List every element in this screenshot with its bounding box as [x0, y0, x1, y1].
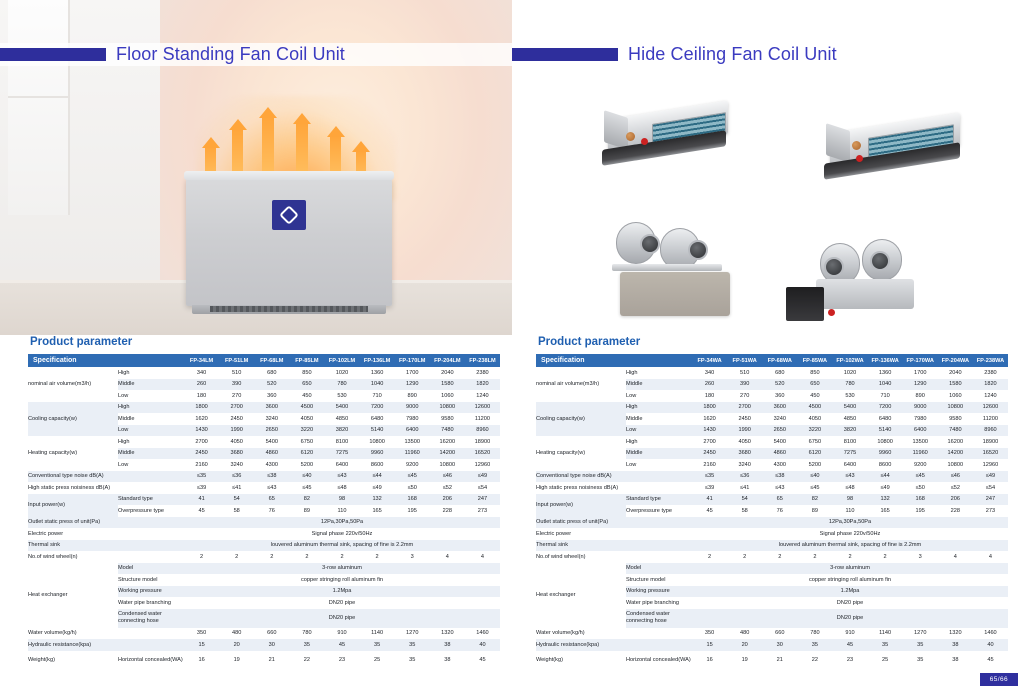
cell-value: 4050 [219, 436, 254, 448]
table-row: Input power(w)Standard type4154658298132… [28, 494, 500, 506]
cell-value: 1290 [903, 379, 938, 391]
cell-value: 260 [184, 379, 219, 391]
header-model-right-1: FP-51WA [727, 354, 762, 367]
cell-value: 228 [938, 505, 973, 517]
cell-value: 20 [727, 639, 762, 651]
cell-value: 5140 [868, 425, 903, 437]
row-sublabel: Middle [118, 448, 184, 460]
cell-value: 9960 [868, 448, 903, 460]
copper-pipe-icon [626, 132, 635, 141]
cell-value: 1270 [903, 628, 938, 640]
section-title-text: Floor Standing Fan Coil Unit [116, 44, 345, 65]
catalog-page: Floor Standing Fan Coil Unit Hide Ceilin… [0, 0, 1024, 695]
table-row: nominal air volume(m3/h)High340510680850… [536, 367, 1008, 379]
cell-value: 1820 [973, 379, 1008, 391]
front-panel [620, 272, 730, 316]
table-row: Cooling capacity(w)High18002700360045005… [28, 402, 500, 414]
cell-value: 1580 [430, 379, 465, 391]
cell-value: 340 [692, 367, 727, 379]
header-model-right-8: FP-238WA [973, 354, 1008, 367]
row-sublabel: Working pressure [118, 586, 184, 598]
cell-value: 4050 [797, 413, 832, 425]
cell-value: 1320 [938, 628, 973, 640]
cell-value: 22 [289, 651, 324, 670]
table-row: Weight(kg)Horizontal concealed(WA)161921… [536, 651, 1008, 670]
cell-value: 11200 [465, 413, 500, 425]
cell-value: 180 [184, 390, 219, 402]
header-model-right-3: FP-85WA [797, 354, 832, 367]
cell-value: ≤49 [465, 471, 500, 483]
cell-value: 6750 [797, 436, 832, 448]
open-chamber [786, 287, 824, 321]
cell-value: 360 [762, 390, 797, 402]
cell-value: 3600 [254, 402, 289, 414]
brand-logo [272, 200, 306, 230]
cell-value: 30 [254, 639, 289, 651]
cell-value: 1240 [465, 390, 500, 402]
section-title-floor-standing: Floor Standing Fan Coil Unit [0, 44, 345, 65]
cell-value: 8100 [324, 436, 359, 448]
row-label: Hydraulic resistance(kpa) [536, 639, 692, 651]
cell-value: ≤43 [254, 482, 289, 494]
cell-merged-value: copper stringing roll aluminum fin [184, 574, 500, 586]
cell-value: 16520 [465, 448, 500, 460]
cell-value: 3 [903, 551, 938, 563]
cell-value: 10800 [360, 436, 395, 448]
cell-value: 110 [832, 505, 867, 517]
cell-value: 510 [219, 367, 254, 379]
cell-merged-value: 3-row aluminum [692, 563, 1008, 575]
cell-value: 1360 [360, 367, 395, 379]
cell-value: 9580 [938, 413, 973, 425]
row-label: Heating capacity(w) [536, 436, 626, 471]
logo-mark-icon [279, 205, 299, 225]
row-sublabel: Horizontal concealed(WA) [626, 651, 692, 670]
table-row: Conventional type noise dB(A)≤35≤36≤38≤4… [28, 471, 500, 483]
cell-value: 1060 [938, 390, 973, 402]
row-sublabel: Middle [118, 379, 184, 391]
spec-table-floor-standing: SpecificationFP-34LMFP-51LMFP-68LMFP-85L… [28, 354, 500, 670]
cell-value: 195 [903, 505, 938, 517]
cell-value: 1360 [868, 367, 903, 379]
cell-value: 3240 [762, 413, 797, 425]
cell-value: 1800 [692, 402, 727, 414]
cell-value: 2160 [184, 459, 219, 471]
cell-value: 2 [692, 551, 727, 563]
cell-value: 1580 [938, 379, 973, 391]
cell-value: 2380 [973, 367, 1008, 379]
table-row: Hydraulic resistance(kpa)152030354535353… [536, 639, 1008, 651]
cell-value: 8100 [832, 436, 867, 448]
cell-value: 4850 [324, 413, 359, 425]
cell-value: 11960 [395, 448, 430, 460]
copper-pipe-icon [852, 141, 861, 150]
cell-value: 21 [254, 651, 289, 670]
cell-value: 3220 [797, 425, 832, 437]
row-sublabel: Structure model [626, 574, 692, 586]
row-sublabel: High [118, 436, 184, 448]
left-parameter-section: Product parameter SpecificationFP-34LMFP… [28, 336, 500, 670]
row-label: Thermal sink [28, 540, 184, 552]
cell-value: 165 [868, 505, 903, 517]
cell-value: 12600 [973, 402, 1008, 414]
cell-value: 710 [868, 390, 903, 402]
table-row-heat-exchanger: Heat exchangerModel3-row aluminum [28, 563, 500, 575]
header-model-left-7: FP-204LM [430, 354, 465, 367]
row-label: Weight(kg) [28, 651, 118, 670]
row-sublabel: Overpressure type [626, 505, 692, 517]
cell-value: 8960 [465, 425, 500, 437]
cell-value: 82 [289, 494, 324, 506]
cell-value: 270 [727, 390, 762, 402]
cell-value: 5400 [324, 402, 359, 414]
cell-value: 2160 [692, 459, 727, 471]
cell-value: ≤49 [973, 471, 1008, 483]
cell-value: 2380 [465, 367, 500, 379]
cell-value: 1020 [832, 367, 867, 379]
cell-value: ≤46 [938, 471, 973, 483]
table-row: nominal air volume(m3/h)High340510680850… [28, 367, 500, 379]
cell-value: ≤48 [832, 482, 867, 494]
header-model-right-5: FP-136WA [868, 354, 903, 367]
cell-value: 7275 [324, 448, 359, 460]
cell-value: ≤50 [395, 482, 430, 494]
cell-value: 780 [797, 628, 832, 640]
unit-top-panel [184, 171, 394, 180]
cell-value: 7480 [938, 425, 973, 437]
cell-value: 2 [219, 551, 254, 563]
cell-value: 6400 [395, 425, 430, 437]
cell-value: 4050 [289, 413, 324, 425]
cell-value: ≤54 [973, 482, 1008, 494]
row-label: Heating capacity(w) [28, 436, 118, 471]
header-model-left-1: FP-51LM [219, 354, 254, 367]
cell-value: 6120 [289, 448, 324, 460]
cell-value: ≤48 [324, 482, 359, 494]
cell-merged-value: DN20 pipe [692, 609, 1008, 628]
cell-value: ≤38 [254, 471, 289, 483]
cell-value: 76 [762, 505, 797, 517]
cell-value: 89 [289, 505, 324, 517]
cell-value: 1320 [430, 628, 465, 640]
row-sublabel: High [626, 402, 692, 414]
cell-merged-value: louvered aluminum thermal sink, spacing … [184, 540, 500, 552]
cell-value: 1990 [219, 425, 254, 437]
cell-value: 2 [797, 551, 832, 563]
cell-value: 270 [219, 390, 254, 402]
cell-value: 45 [465, 651, 500, 670]
cell-value: 10800 [430, 402, 465, 414]
cell-value: 41 [184, 494, 219, 506]
header-model-left-6: FP-170LM [395, 354, 430, 367]
cell-value: 45 [973, 651, 1008, 670]
row-label: No.of wind wheel(n) [28, 551, 184, 563]
cell-value: ≤46 [430, 471, 465, 483]
cell-value: 1700 [903, 367, 938, 379]
cell-value: 4 [973, 551, 1008, 563]
header-model-right-2: FP-68WA [762, 354, 797, 367]
cell-value: 16 [692, 651, 727, 670]
cell-value: 6480 [868, 413, 903, 425]
cell-value: 35 [395, 651, 430, 670]
row-sublabel: Overpressure type [118, 505, 184, 517]
cell-value: 7480 [430, 425, 465, 437]
cell-value: 41 [692, 494, 727, 506]
row-sublabel: Structure model [118, 574, 184, 586]
cell-value: 340 [184, 367, 219, 379]
cell-value: ≤40 [797, 471, 832, 483]
table-row-merged: Electric powerSignal phase 220v/50Hz [536, 528, 1008, 540]
row-sublabel: Low [118, 390, 184, 402]
cell-value: 4 [430, 551, 465, 563]
cell-value: 450 [797, 390, 832, 402]
cell-value: 35 [289, 639, 324, 651]
cell-value: 4300 [254, 459, 289, 471]
cell-value: 1460 [973, 628, 1008, 640]
cell-value: 6400 [903, 425, 938, 437]
pipe-cap-icon [828, 309, 835, 316]
cell-value: 4860 [762, 448, 797, 460]
cell-value: 180 [692, 390, 727, 402]
cell-value: 2040 [430, 367, 465, 379]
cell-value: 10800 [938, 402, 973, 414]
cell-value: 38 [938, 651, 973, 670]
cell-value: 65 [254, 494, 289, 506]
table-row: Cooling capacity(w)High18002700360045005… [536, 402, 1008, 414]
cell-value: 38 [938, 639, 973, 651]
cell-value: 7200 [868, 402, 903, 414]
row-sublabel: Low [626, 459, 692, 471]
cell-value: 8600 [360, 459, 395, 471]
header-model-left-3: FP-85LM [289, 354, 324, 367]
cell-value: 19 [219, 651, 254, 670]
cell-value: 12960 [973, 459, 1008, 471]
row-sublabel: High [118, 367, 184, 379]
cell-value: 4850 [832, 413, 867, 425]
row-label: Hydraulic resistance(kpa) [28, 639, 184, 651]
cell-value: 6480 [360, 413, 395, 425]
title-accent-bar [512, 48, 618, 61]
cell-value: ≤35 [692, 471, 727, 483]
row-sublabel: Horizontal concealed(WA) [118, 651, 184, 670]
cell-value: 1990 [727, 425, 762, 437]
table-row: Conventional type noise dB(A)≤35≤36≤38≤4… [536, 471, 1008, 483]
cell-value: 1060 [430, 390, 465, 402]
row-label: nominal air volume(m3/h) [28, 367, 118, 402]
cell-value: 1020 [324, 367, 359, 379]
cell-value: 1270 [395, 628, 430, 640]
cell-value: 2 [254, 551, 289, 563]
cell-value: 58 [219, 505, 254, 517]
cell-value: ≤36 [727, 471, 762, 483]
cell-merged-value: 3-row aluminum [184, 563, 500, 575]
cell-value: 25 [868, 651, 903, 670]
cell-value: 3680 [219, 448, 254, 460]
table-header-row: SpecificationFP-34LMFP-51LMFP-68LMFP-85L… [28, 354, 500, 367]
table-row-merged: Outlet static press of unit(Pa)12Pa,30Pa… [536, 517, 1008, 529]
cell-value: 247 [973, 494, 1008, 506]
cell-value: ≤44 [360, 471, 395, 483]
cell-value: ≤35 [184, 471, 219, 483]
cell-value: 2450 [692, 448, 727, 460]
cell-value: 5140 [360, 425, 395, 437]
cell-value: 4050 [727, 436, 762, 448]
cell-value: 1700 [395, 367, 430, 379]
cell-value: 2 [360, 551, 395, 563]
cell-value: ≤45 [903, 471, 938, 483]
cell-value: 650 [289, 379, 324, 391]
cell-value: 21 [762, 651, 797, 670]
cell-merged-value: Signal phase 220v/50Hz [692, 528, 1008, 540]
cell-value: 82 [797, 494, 832, 506]
cell-value: 520 [762, 379, 797, 391]
row-sublabel: Standard type [118, 494, 184, 506]
cell-value: ≤39 [692, 482, 727, 494]
row-sublabel: Water pipe branching [118, 597, 184, 609]
cell-value: 35 [797, 639, 832, 651]
table-row: Weight(kg)Horizontal concealed(WA)161921… [28, 651, 500, 670]
cell-merged-value: DN20 pipe [184, 609, 500, 628]
cell-value: 2040 [938, 367, 973, 379]
cell-merged-value: DN20 pipe [184, 597, 500, 609]
cell-value: 132 [360, 494, 395, 506]
blower-hub [640, 234, 660, 254]
cell-value: 12600 [465, 402, 500, 414]
cell-value: 2650 [762, 425, 797, 437]
cell-value: 98 [324, 494, 359, 506]
cell-value: 890 [903, 390, 938, 402]
cell-value: 20 [219, 639, 254, 651]
cell-value: 18900 [973, 436, 1008, 448]
cell-value: ≤41 [219, 482, 254, 494]
header-model-left-0: FP-34LM [184, 354, 219, 367]
cell-value: 3820 [832, 425, 867, 437]
header-model-left-2: FP-68LM [254, 354, 289, 367]
blower-hub [824, 257, 844, 277]
cell-value: 850 [797, 367, 832, 379]
row-sublabel: High [118, 402, 184, 414]
row-sublabel: Condensed water connecting hose [626, 609, 692, 628]
table-row: Heating capacity(w)High27004050540067508… [28, 436, 500, 448]
cell-value: 195 [395, 505, 430, 517]
row-label: No.of wind wheel(n) [536, 551, 692, 563]
cell-value: 132 [868, 494, 903, 506]
cell-value: 16200 [938, 436, 973, 448]
cell-value: 1620 [692, 413, 727, 425]
row-label: High static press noisiness dB(A) [536, 482, 692, 494]
cell-value: 680 [254, 367, 289, 379]
cell-value: 45 [324, 639, 359, 651]
row-sublabel: Condensed water connecting hose [118, 609, 184, 628]
table-row: Heating capacity(w)High27004050540067508… [536, 436, 1008, 448]
table-row: Water volume(kg/h)3504806607809101140127… [28, 628, 500, 640]
cell-value: 780 [289, 628, 324, 640]
cell-value: 6400 [832, 459, 867, 471]
header-model-right-7: FP-204WA [938, 354, 973, 367]
cell-value: 45 [692, 505, 727, 517]
cell-value: 165 [360, 505, 395, 517]
cell-value: 9960 [360, 448, 395, 460]
cell-value: 3680 [727, 448, 762, 460]
cell-value: 350 [184, 628, 219, 640]
cell-value: ≤49 [868, 482, 903, 494]
header-model-left-5: FP-136LM [360, 354, 395, 367]
cell-merged-value: louvered aluminum thermal sink, spacing … [692, 540, 1008, 552]
cell-value: 3240 [727, 459, 762, 471]
cell-value: ≤36 [219, 471, 254, 483]
cell-value: 45 [184, 505, 219, 517]
row-label: Outlet static press of unit(Pa) [536, 517, 692, 529]
cell-value: ≤43 [324, 471, 359, 483]
cell-value: 65 [762, 494, 797, 506]
blower-housing [816, 279, 914, 309]
page-number-badge: 65/66 [980, 673, 1018, 686]
cell-value: 89 [797, 505, 832, 517]
cell-value: 13500 [903, 436, 938, 448]
cell-value: 54 [727, 494, 762, 506]
cell-merged-value: 1.2Mpa [184, 586, 500, 598]
cell-value: 4500 [797, 402, 832, 414]
cell-value: 273 [465, 505, 500, 517]
floor-standing-unit [186, 178, 392, 306]
cell-value: 480 [727, 628, 762, 640]
row-label: Thermal sink [536, 540, 692, 552]
cell-value: 510 [727, 367, 762, 379]
cell-value: 390 [727, 379, 762, 391]
cell-value: 5400 [832, 402, 867, 414]
cell-value: 680 [762, 367, 797, 379]
product-parameter-heading: Product parameter [538, 336, 1008, 348]
cell-value: 15 [692, 639, 727, 651]
cell-value: 35 [903, 651, 938, 670]
cell-value: 260 [692, 379, 727, 391]
cell-value: 780 [832, 379, 867, 391]
cell-value: 2 [762, 551, 797, 563]
cell-value: 4300 [762, 459, 797, 471]
cell-value: 2 [289, 551, 324, 563]
cell-value: 2 [868, 551, 903, 563]
cell-value: 16520 [973, 448, 1008, 460]
row-label: Water volume(kg/h) [28, 628, 184, 640]
cell-value: 6750 [289, 436, 324, 448]
row-label: Input power(w) [536, 494, 626, 517]
cell-value: 9000 [395, 402, 430, 414]
cell-value: 9000 [903, 402, 938, 414]
cell-value: 360 [254, 390, 289, 402]
cell-value: 247 [465, 494, 500, 506]
header-model-right-4: FP-102WA [832, 354, 867, 367]
title-accent-bar [0, 48, 106, 61]
cell-value: 168 [395, 494, 430, 506]
row-sublabel: Low [118, 425, 184, 437]
pipe-cap-icon [856, 155, 863, 162]
cell-value: 4 [465, 551, 500, 563]
cell-value: 1290 [395, 379, 430, 391]
cell-value: 2700 [219, 402, 254, 414]
cell-value: 19 [727, 651, 762, 670]
cell-value: 228 [430, 505, 465, 517]
cell-merged-value: Signal phase 220v/50Hz [184, 528, 500, 540]
cell-value: 30 [762, 639, 797, 651]
cell-value: 38 [430, 639, 465, 651]
cell-value: 98 [832, 494, 867, 506]
cell-value: 9200 [903, 459, 938, 471]
cell-value: 3240 [219, 459, 254, 471]
row-sublabel: High [626, 436, 692, 448]
cell-value: 110 [324, 505, 359, 517]
cell-value: 520 [254, 379, 289, 391]
cell-value: 2 [727, 551, 762, 563]
